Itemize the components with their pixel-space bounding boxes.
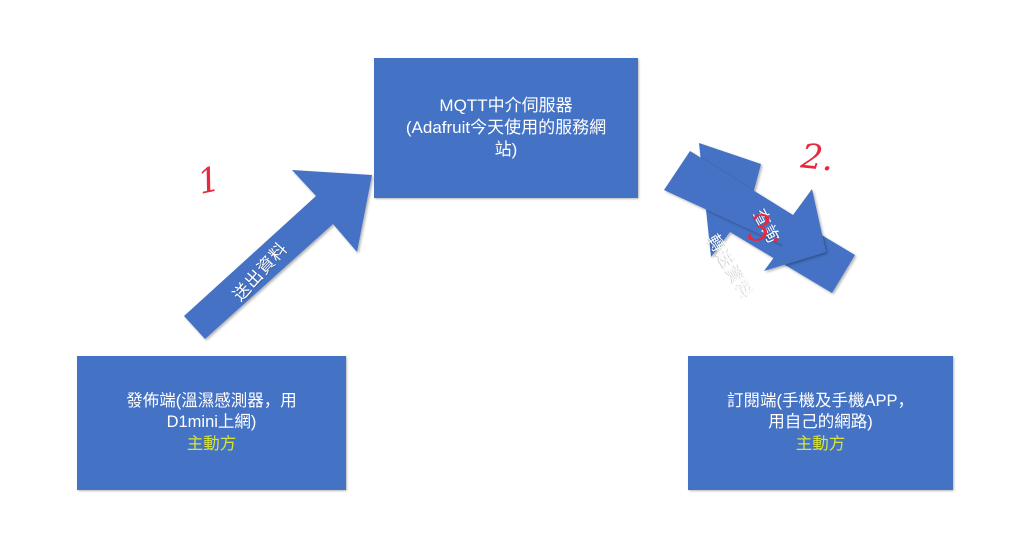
node-broker-line-2: (Adafruit今天使用的服務網 [406,117,606,139]
annotation-step-1: 1 [195,162,223,200]
node-publisher: 發佈端(溫濕感測器，用 D1mini上網) 主動方 [77,356,346,490]
node-mqtt-broker: MQTT中介伺服器 (Adafruit今天使用的服務網 站) [374,58,638,198]
node-subscriber: 訂閱端(手機及手機APP， 用自己的網路) 主動方 [688,356,953,490]
annotation-step-3: 3. [747,211,784,249]
node-publisher-line-1: 發佈端(溫濕感測器，用 [126,391,297,412]
annotation-step-2: 2. [799,139,835,176]
arrow-label-send-data: 送出資料 [226,235,293,305]
node-broker-line-3: 站) [495,139,518,161]
node-broker-line-1: MQTT中介伺服器 [439,95,572,117]
node-publisher-accent: 主動方 [187,434,237,455]
diagram-canvas: 送出資料 查詢 轉送資料 1 2. 3. MQTT中介伺服器 (Adafruit… [0,0,1024,546]
node-subscriber-line-1: 訂閱端(手機及手機APP， [727,391,914,412]
node-subscriber-accent: 主動方 [796,434,846,455]
node-publisher-line-2: D1mini上網) [167,412,257,433]
node-subscriber-line-2: 用自己的網路) [768,412,873,433]
